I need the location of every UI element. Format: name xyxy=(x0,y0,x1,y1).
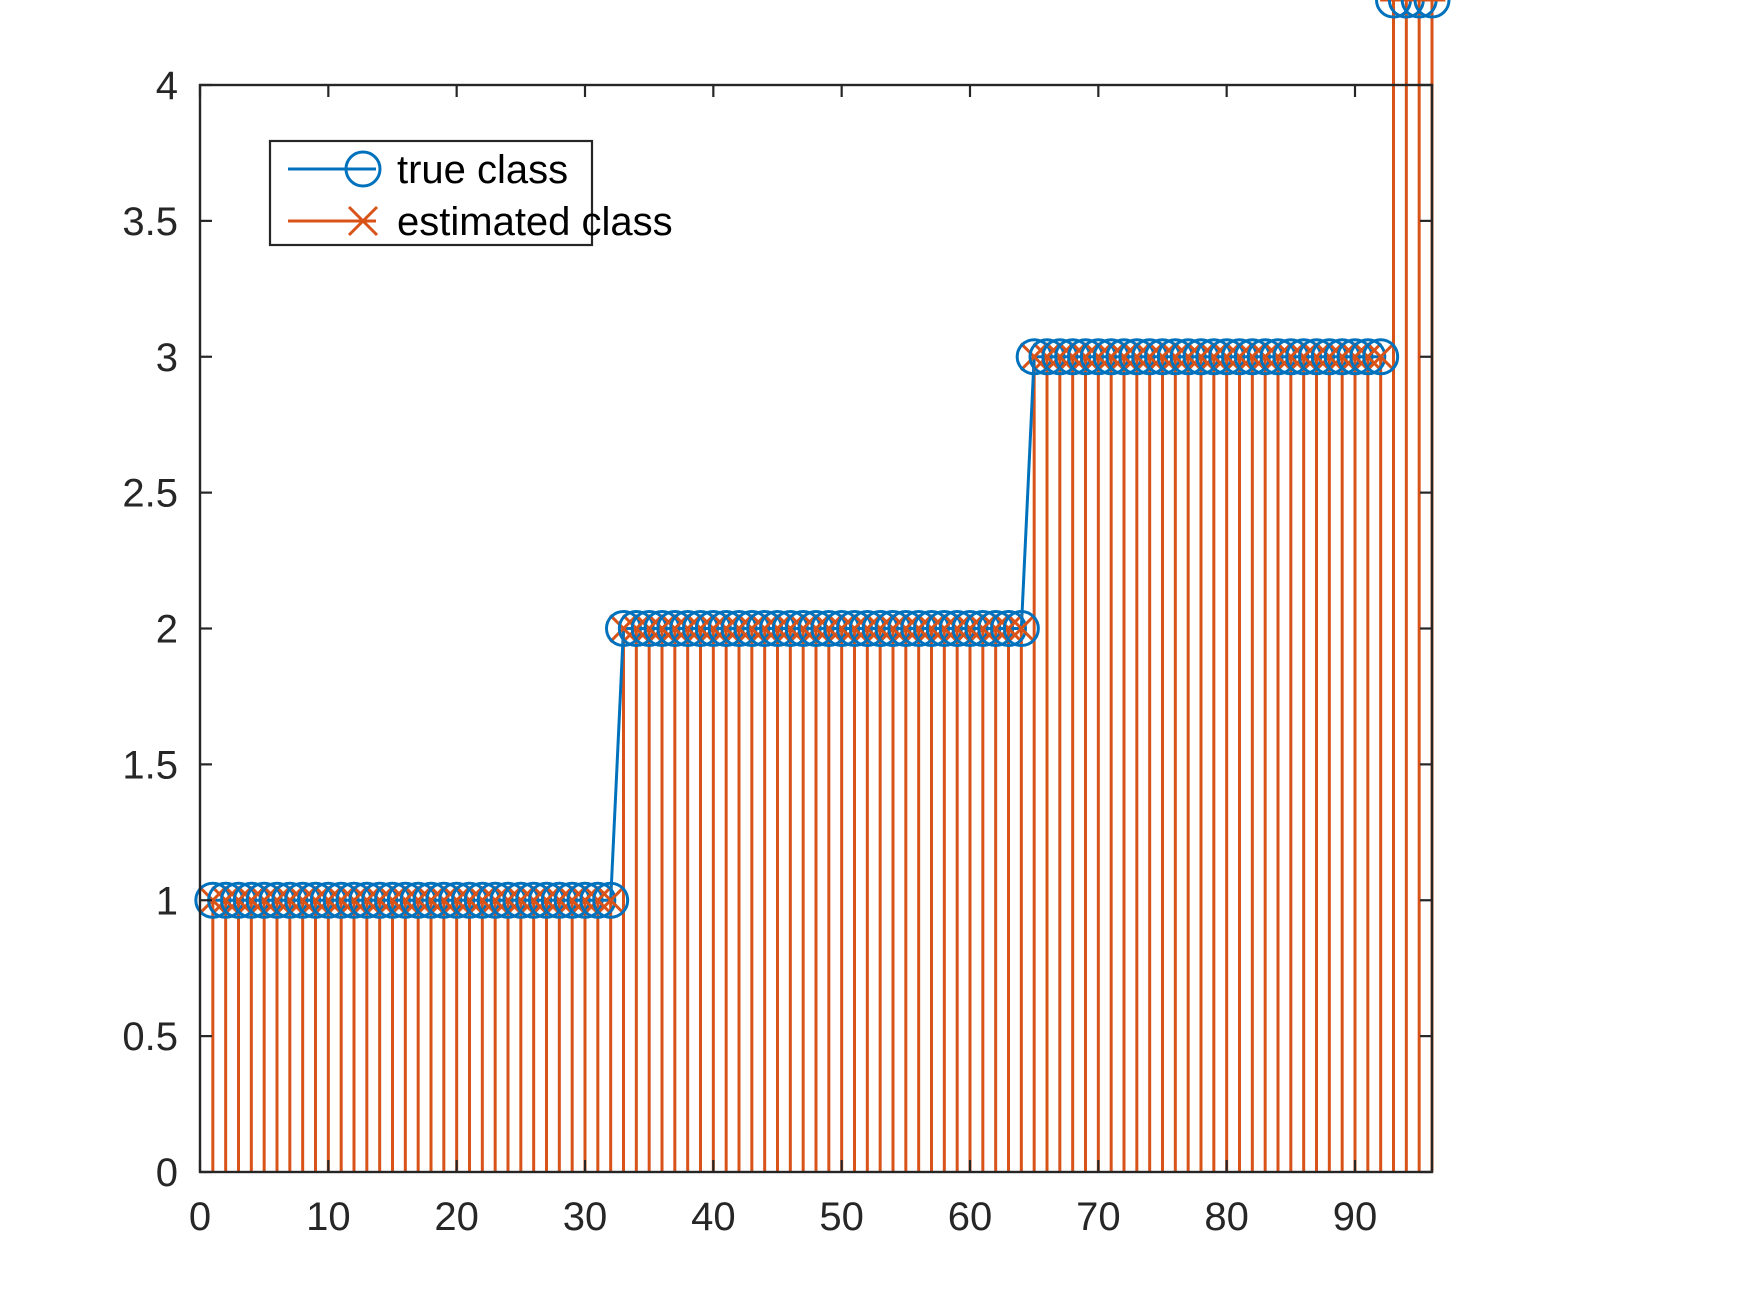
chart-plot[interactable]: 010203040506070809000.511.522.533.54 tru… xyxy=(0,0,1750,1313)
x-tick-label: 30 xyxy=(563,1195,608,1239)
data-markers-group xyxy=(196,0,1449,917)
y-tick-label: 0.5 xyxy=(122,1015,178,1059)
y-tick-label: 1.5 xyxy=(122,743,178,787)
legend-item-label: true class xyxy=(397,148,568,192)
y-tick-label: 3.5 xyxy=(122,200,178,244)
x-tick-label: 50 xyxy=(819,1195,864,1239)
x-tick-label: 40 xyxy=(691,1195,736,1239)
figure-canvas: 010203040506070809000.511.522.533.54 tru… xyxy=(0,0,1750,1313)
y-tick-label: 0 xyxy=(156,1151,178,1195)
x-tick-label: 80 xyxy=(1204,1195,1249,1239)
y-tick-label: 4 xyxy=(156,64,178,108)
x-tick-label: 70 xyxy=(1076,1195,1121,1239)
y-tick-label: 2 xyxy=(156,608,178,652)
x-tick-label: 60 xyxy=(948,1195,993,1239)
y-tick-label: 3 xyxy=(156,336,178,380)
x-tick-label: 10 xyxy=(306,1195,351,1239)
x-tick-label: 0 xyxy=(189,1195,211,1239)
y-tick-label: 2.5 xyxy=(122,472,178,516)
true-class-line xyxy=(213,357,1381,901)
chart-legend[interactable]: true classestimated class xyxy=(270,141,673,245)
x-tick-label: 20 xyxy=(434,1195,479,1239)
legend-item-label: estimated class xyxy=(397,200,673,244)
y-tick-label: 1 xyxy=(156,879,178,923)
x-tick-label: 90 xyxy=(1333,1195,1378,1239)
